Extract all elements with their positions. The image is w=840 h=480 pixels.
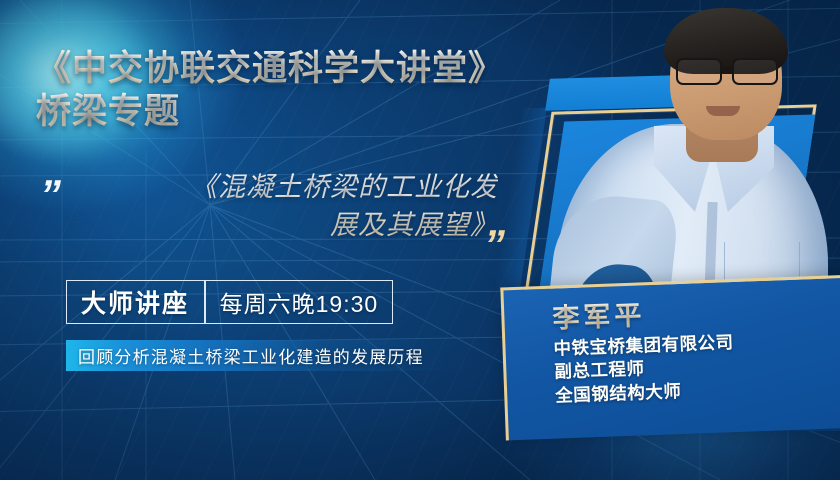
headline-line-2: 桥梁专题	[36, 91, 616, 134]
speaker-info-content: 李军平 中铁宝桥集团有限公司 副总工程师 全国钢结构大师	[552, 286, 840, 408]
speaker-mouth	[706, 106, 740, 116]
lecture-topic-quote: ” 《混凝土桥梁的工业化发 展及其展望》 ”	[36, 168, 536, 268]
lecture-schedule-bar: 大师讲座 每周六晚19:30	[66, 280, 393, 324]
speaker-info-panel: 李军平 中铁宝桥集团有限公司 副总工程师 全国钢结构大师	[500, 275, 840, 441]
description-text: 回顾分析混凝土桥梁工业化建造的发展历程	[66, 343, 424, 368]
lecture-type-label: 大师讲座	[67, 284, 204, 320]
quote-text: 《混凝土桥梁的工业化发 展及其展望》	[90, 168, 498, 245]
glasses-lens-right	[732, 58, 778, 85]
description-bar: 回顾分析混凝土桥梁工业化建造的发展历程	[66, 340, 486, 371]
page-title: 《中交协联交通科学大讲堂》 桥梁专题	[36, 48, 616, 133]
quote-line-2: 展及其展望》	[90, 206, 498, 244]
lecture-poster: 《中交协联交通科学大讲堂》 桥梁专题 ” 《混凝土桥梁的工业化发 展及其展望》 …	[0, 0, 840, 480]
quote-mark-close: ”	[484, 224, 502, 266]
quote-mark-open: ”	[40, 174, 58, 216]
glasses-icon	[674, 58, 780, 82]
headline-line-1: 《中交协联交通科学大讲堂》	[36, 48, 616, 91]
quote-line-1: 《混凝土桥梁的工业化发	[90, 168, 498, 206]
glasses-lens-left	[676, 58, 722, 85]
lecture-schedule-label: 每周六晚19:30	[206, 285, 393, 319]
